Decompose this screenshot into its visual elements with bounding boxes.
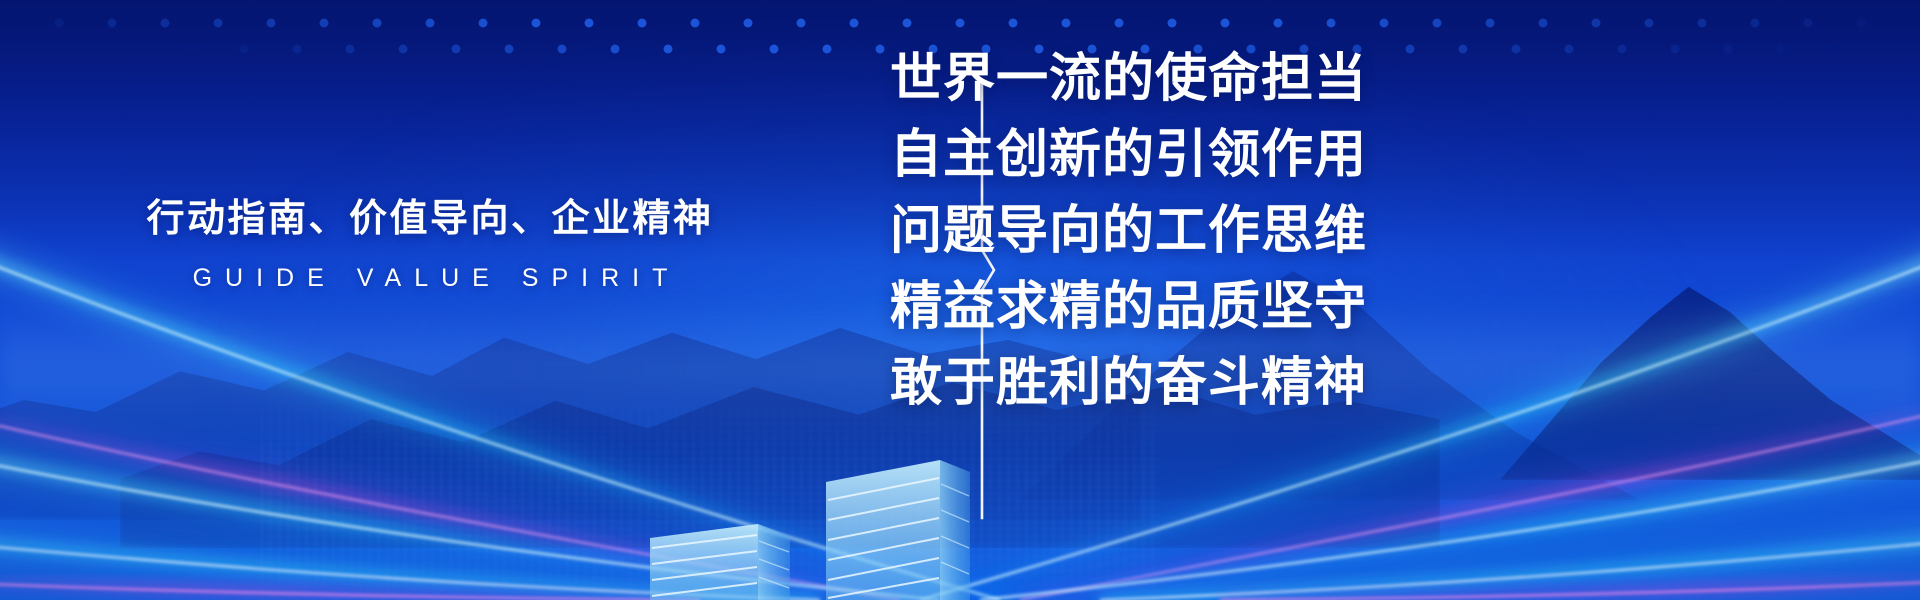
right-text-block: 世界一流的使命担当 自主创新的引领作用 问题导向的工作思维 精益求精的品质坚守 … [890,42,1410,422]
skyscraper-right [826,460,970,600]
left-title: 行动指南、价值导向、企业精神 [120,196,740,244]
left-subtitle: GUIDE VALUE SPIRIT [120,263,740,293]
dot-row-top [0,16,1920,30]
corporate-culture-banner: 行动指南、价值导向、企业精神 GUIDE VALUE SPIRIT 世界一流的使… [0,0,1920,600]
headline-line-5: 敢于胜利的奋斗精神 [890,346,1410,422]
left-text-block: 行动指南、价值导向、企业精神 GUIDE VALUE SPIRIT [120,196,740,293]
skyscraper-graphic [640,420,1000,600]
headline-line-1: 世界一流的使命担当 [890,42,1410,118]
headline-line-3: 问题导向的工作思维 [890,194,1410,270]
headline-line-4: 精益求精的品质坚守 [890,270,1410,346]
skyscraper-left [650,524,790,600]
headline-line-2: 自主创新的引领作用 [890,118,1410,194]
